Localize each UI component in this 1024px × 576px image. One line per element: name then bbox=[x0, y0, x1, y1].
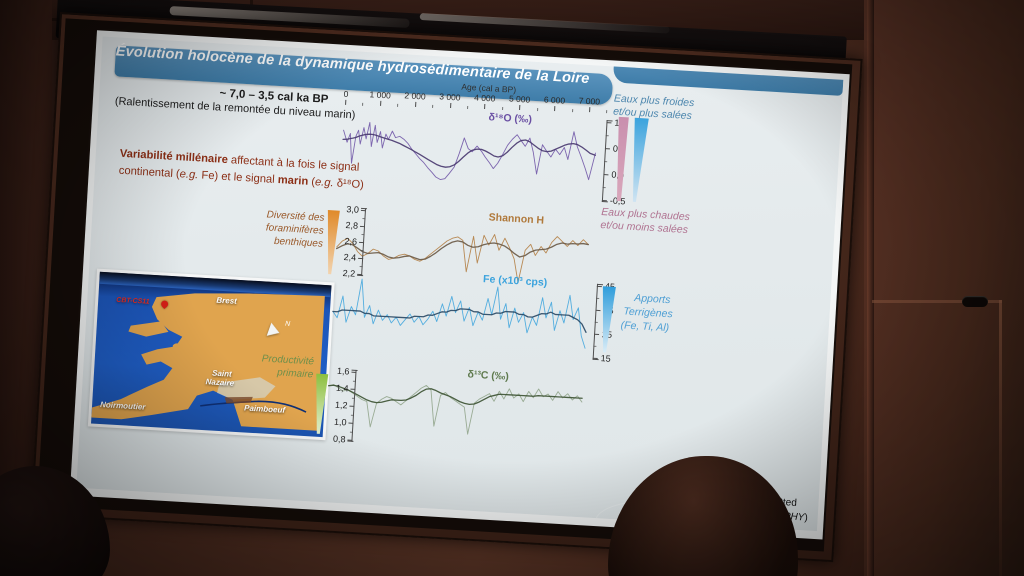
x-tick-minor bbox=[537, 108, 538, 111]
annotation-terrigenous-3: (Fe, Ti, Al) bbox=[620, 319, 669, 335]
para-eg-2: e.g. bbox=[315, 176, 334, 189]
y-tick-minor bbox=[606, 135, 609, 136]
y-tick bbox=[347, 440, 352, 441]
series-label-d18o: δ¹⁸O (‰) bbox=[488, 111, 532, 126]
y-tick bbox=[358, 258, 363, 259]
para-eg-1: e.g. bbox=[179, 168, 198, 181]
y-tick bbox=[593, 358, 598, 359]
x-tick-minor bbox=[467, 106, 468, 109]
citation-paren: ) bbox=[804, 512, 808, 523]
x-tick bbox=[485, 104, 486, 109]
y-tick-minor bbox=[595, 322, 598, 323]
x-tick bbox=[380, 101, 381, 106]
x-tick bbox=[519, 105, 520, 110]
y-tick-minor bbox=[361, 234, 364, 235]
d18o-plot-curves bbox=[340, 107, 604, 202]
y-tick bbox=[606, 122, 611, 123]
x-tick bbox=[415, 102, 416, 107]
map-label-saint-nazaire-2: Nazaire bbox=[205, 377, 234, 388]
map-label-brest: Brest bbox=[216, 296, 237, 306]
para-emph-2: marin bbox=[277, 174, 308, 188]
lecture-room-photo: Évolution holocène de la dynamique hydro… bbox=[0, 0, 1024, 576]
y-tick-minor bbox=[603, 187, 606, 188]
x-tick bbox=[450, 103, 451, 108]
door-handle-icon[interactable] bbox=[962, 296, 988, 307]
multi-panel-proxy-chart: Age (cal a BP) 01 0002 0003 0004 0005 00… bbox=[322, 75, 836, 523]
y-tick bbox=[349, 406, 354, 407]
y-tick bbox=[603, 174, 608, 175]
x-tick-minor bbox=[607, 110, 608, 113]
x-tick-label: 6 000 bbox=[544, 94, 566, 105]
y-tick bbox=[602, 200, 607, 201]
para-text-3: Fe) et le signal bbox=[198, 169, 278, 186]
y-tick-minor bbox=[351, 414, 354, 415]
x-tick bbox=[589, 107, 590, 112]
series-label-d13c: δ¹³C (‰) bbox=[467, 368, 509, 382]
presentation-slide: Évolution holocène de la dynamique hydro… bbox=[76, 37, 843, 532]
x-tick bbox=[554, 106, 555, 111]
left-label-diversity: Diversité des foraminifères benthiques bbox=[213, 205, 325, 250]
y-tick-minor bbox=[352, 397, 355, 398]
y-tick-minor bbox=[596, 298, 599, 299]
temperature-wedges-icon bbox=[608, 116, 663, 205]
x-tick-label: 7 000 bbox=[578, 95, 600, 106]
x-tick-label: 5 000 bbox=[509, 93, 531, 104]
y-tick-minor bbox=[353, 380, 356, 381]
y-tick bbox=[350, 389, 355, 390]
x-tick-label: 0 bbox=[343, 89, 348, 99]
x-tick-label: 2 000 bbox=[404, 90, 426, 101]
x-tick-minor bbox=[397, 104, 398, 107]
x-tick-minor bbox=[362, 103, 363, 106]
y-tick-minor bbox=[350, 431, 353, 432]
para-text-2: continental ( bbox=[118, 165, 180, 181]
door-panel-edge bbox=[999, 300, 1002, 576]
door-frame bbox=[867, 0, 874, 576]
x-tick-label: 3 000 bbox=[439, 91, 461, 102]
annotation-terrigenous-1: Apports bbox=[634, 292, 671, 307]
x-tick-label: 1 000 bbox=[369, 89, 391, 100]
y-tick-minor bbox=[362, 218, 365, 219]
y-tick bbox=[360, 226, 365, 227]
x-tick-minor bbox=[502, 107, 503, 110]
x-tick-label: 4 000 bbox=[474, 92, 496, 103]
d13c-plot-curves bbox=[325, 366, 589, 457]
y-tick bbox=[605, 148, 610, 149]
y-tick bbox=[348, 423, 353, 424]
x-tick-minor bbox=[572, 109, 573, 112]
para-emph-1: Variabilité millénaire bbox=[119, 148, 228, 166]
y-tick-minor bbox=[361, 250, 364, 251]
map-north-arrow-label: N bbox=[285, 321, 290, 328]
fe-plot-curves bbox=[331, 263, 595, 360]
y-tick-minor bbox=[593, 346, 596, 347]
y-tick bbox=[359, 242, 364, 243]
y-tick-minor bbox=[604, 161, 607, 162]
y-tick-label: 15 bbox=[600, 353, 611, 364]
y-tick bbox=[351, 372, 356, 373]
x-tick bbox=[345, 100, 346, 105]
y-tick bbox=[361, 210, 366, 211]
x-tick-minor bbox=[432, 105, 433, 108]
